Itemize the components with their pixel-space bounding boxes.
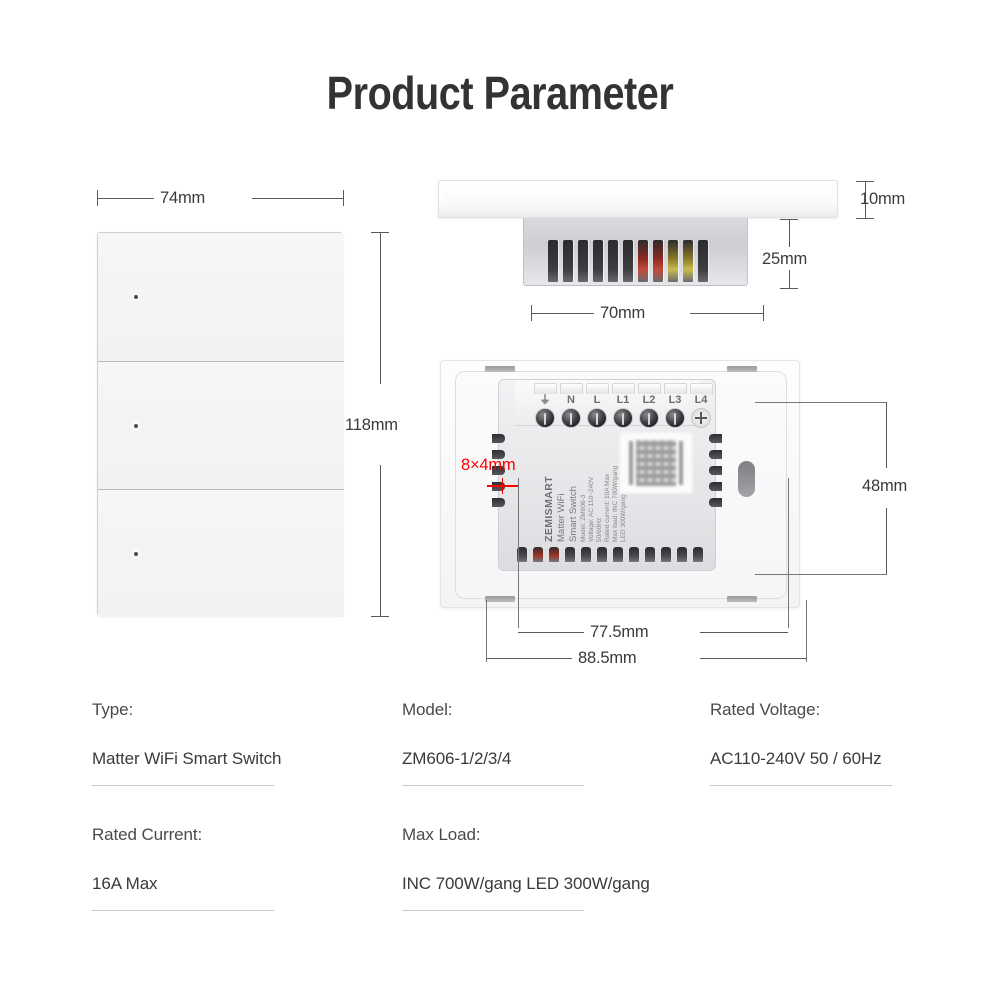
screw-tab xyxy=(727,366,757,372)
led-indicator-icon xyxy=(134,552,138,556)
vent-slot xyxy=(653,240,663,282)
spec-key: Model: xyxy=(402,700,702,720)
terminal-earth: ⏚ xyxy=(533,383,557,428)
terminal-label: L2 xyxy=(637,394,661,407)
spec-value: INC 700W/gang LED 300W/gang xyxy=(402,874,822,894)
module-line-1: Matter WiFi xyxy=(556,466,567,542)
vent-slot xyxy=(638,240,648,282)
terminal-label: N xyxy=(559,394,583,407)
contact-tooth xyxy=(645,547,655,562)
terminal-cap xyxy=(664,383,687,394)
spec-value: ZM606-1/2/3/4 xyxy=(402,749,702,769)
vent-slot xyxy=(563,240,573,282)
terminal-n: N xyxy=(559,383,583,428)
contact-tooth xyxy=(533,547,543,562)
specification-table: Type: Matter WiFi Smart Switch Model: ZM… xyxy=(92,700,922,950)
outer-width-label: 88.5mm xyxy=(578,649,636,668)
terminal-label: L1 xyxy=(611,394,635,407)
qr-code-sticker-icon xyxy=(619,432,693,494)
screw-tab xyxy=(727,596,757,602)
contact-tooth xyxy=(549,547,559,562)
spec-divider xyxy=(402,785,584,786)
module-line-3: Model: ZM606-3 xyxy=(580,466,587,542)
contact-tooth xyxy=(581,547,591,562)
vent-slot xyxy=(548,240,558,282)
spec-key: Rated Current: xyxy=(92,825,392,845)
spec-divider xyxy=(92,785,274,786)
front-height-label: 118mm xyxy=(345,416,398,435)
contact-tooth xyxy=(709,434,722,443)
led-indicator-icon xyxy=(134,424,138,428)
side-teeth-right xyxy=(709,434,722,507)
terminal-l3: L3 xyxy=(663,383,687,428)
body-width-label: 70mm xyxy=(600,304,645,323)
terminal-cap xyxy=(534,383,557,394)
spec-key: Type: xyxy=(92,700,392,720)
vent-slot xyxy=(608,240,618,282)
spec-value: 16A Max xyxy=(92,874,392,894)
vent-slot xyxy=(668,240,678,282)
terminal-l: L xyxy=(585,383,609,428)
module-line-6: Rated current: 10A Max xyxy=(604,466,611,542)
body-depth-label: 25mm xyxy=(762,250,807,269)
contact-tooth xyxy=(693,547,703,562)
contact-tooth xyxy=(709,466,722,475)
switch-module: ⏚ N L L1 xyxy=(498,379,716,571)
module-line-5: 50/60Hz xyxy=(596,466,603,542)
contact-tooth xyxy=(565,547,575,562)
faceplate-slab xyxy=(438,180,838,218)
contact-tooth xyxy=(709,498,722,507)
terminal-label: L3 xyxy=(663,394,687,407)
terminal-label: L xyxy=(585,394,609,407)
mounting-slot-right xyxy=(738,461,755,497)
mount-hole-crosshair-icon xyxy=(487,478,518,494)
mount-height-label: 48mm xyxy=(862,477,907,496)
screw-tab xyxy=(485,366,515,372)
front-view-panel xyxy=(97,232,343,616)
contact-tooth xyxy=(709,482,722,491)
terminal-label: ⏚ xyxy=(533,394,557,407)
switch-body-side xyxy=(523,218,748,286)
brand-text: ZEMISMART xyxy=(543,466,555,542)
gang-3 xyxy=(98,489,344,617)
spec-divider xyxy=(92,910,274,911)
contact-tooth xyxy=(613,547,623,562)
module-line-2: Smart Switch xyxy=(568,466,579,542)
spec-divider xyxy=(402,910,584,911)
led-indicator-icon xyxy=(134,295,138,299)
vent-slot xyxy=(683,240,693,282)
contact-tooth xyxy=(597,547,607,562)
spec-cell-model: Model: ZM606-1/2/3/4 xyxy=(402,700,702,769)
spec-divider xyxy=(710,785,892,786)
mount-hole-size-label: 8×4mm xyxy=(461,456,515,475)
contact-tooth xyxy=(677,547,687,562)
bottom-teeth xyxy=(517,547,703,562)
spec-cell-type: Type: Matter WiFi Smart Switch xyxy=(92,700,392,769)
plate-thickness-label: 10mm xyxy=(860,190,905,209)
module-line-7: Max load: INC 700W/gang xyxy=(612,466,619,542)
terminal-block: ⏚ N L L1 xyxy=(515,380,701,426)
page-title: Product Parameter xyxy=(70,66,930,120)
terminal-cap xyxy=(612,383,635,394)
terminal-cap xyxy=(638,383,661,394)
contact-tooth xyxy=(629,547,639,562)
module-line-4: Voltage: AC 110~240V xyxy=(588,466,595,542)
terminal-l2: L2 xyxy=(637,383,661,428)
spec-cell-rated-voltage: Rated Voltage: AC110-240V 50 / 60Hz xyxy=(710,700,1000,769)
inner-width-label: 77.5mm xyxy=(590,623,648,642)
spec-row: Type: Matter WiFi Smart Switch Model: ZM… xyxy=(92,700,922,825)
vent-slot xyxy=(578,240,588,282)
screw-hole xyxy=(691,408,711,428)
faceplate-top-surface xyxy=(445,183,833,207)
contact-tooth xyxy=(661,547,671,562)
spec-key: Max Load: xyxy=(402,825,822,845)
terminal-cap xyxy=(690,383,713,394)
spec-cell-max-load: Max Load: INC 700W/gang LED 300W/gang xyxy=(402,825,822,894)
spec-value: AC110-240V 50 / 60Hz xyxy=(710,749,1000,769)
vent-slot xyxy=(623,240,633,282)
spec-key: Rated Voltage: xyxy=(710,700,1000,720)
ventilation-slots xyxy=(548,240,728,282)
terminal-l4: L4 xyxy=(689,383,713,428)
vent-slot xyxy=(698,240,708,282)
vent-slot xyxy=(593,240,603,282)
gang-1 xyxy=(98,233,344,361)
product-parameter-page: Product Parameter 74mm 118mm xyxy=(0,0,1000,1000)
front-width-label: 74mm xyxy=(160,189,205,208)
screw-tab xyxy=(485,596,515,602)
terminal-label: L4 xyxy=(689,394,713,407)
gang-2 xyxy=(98,361,344,489)
contact-tooth xyxy=(492,498,505,507)
terminal-row: ⏚ N L L1 xyxy=(533,383,717,428)
terminal-l1: L1 xyxy=(611,383,635,428)
spec-cell-rated-current: Rated Current: 16A Max xyxy=(92,825,392,894)
contact-tooth xyxy=(709,450,722,459)
spec-value: Matter WiFi Smart Switch xyxy=(92,749,392,769)
spec-row: Rated Current: 16A Max Max Load: INC 700… xyxy=(92,825,922,950)
contact-tooth xyxy=(492,434,505,443)
terminal-cap xyxy=(560,383,583,394)
terminal-cap xyxy=(586,383,609,394)
